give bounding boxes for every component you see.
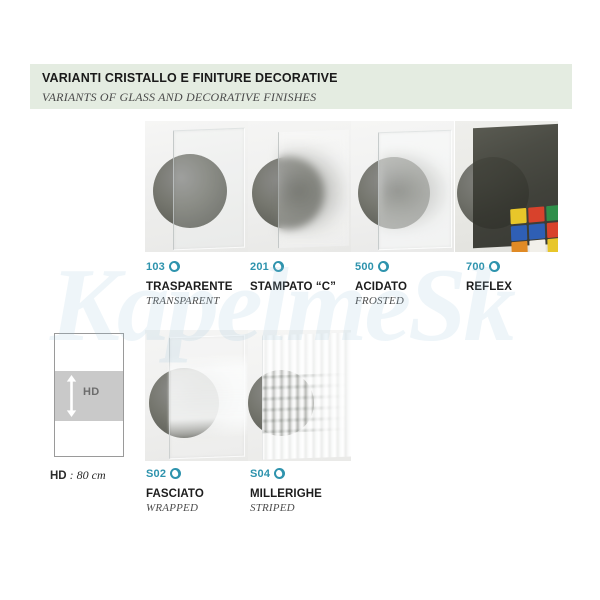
droplet-icon [274, 468, 285, 479]
caption-reflex: 700 REFLEX [466, 259, 512, 295]
droplet-icon [489, 261, 500, 272]
color-cube [546, 205, 558, 221]
hd-diagram: HD [54, 333, 124, 457]
swatch-image-stampato-c[interactable] [248, 121, 351, 252]
hd-caption: HD : 80 cm [50, 468, 106, 483]
hd-caption-value: 80 cm [77, 468, 106, 482]
color-cube [510, 208, 527, 224]
code-row: 700 [466, 259, 512, 274]
finish-name: MILLERIGHE [250, 488, 322, 500]
finish-code: S04 [250, 468, 270, 480]
caption-millerighe: S04 MILLERIGHE STRIPED [250, 466, 322, 514]
fluted-highlight [262, 332, 351, 459]
finish-name: STAMPATO “C” [250, 281, 336, 293]
code-row: 500 [355, 259, 407, 274]
finish-code: 201 [250, 261, 269, 273]
droplet-icon [378, 261, 389, 272]
caption-stampato-c: 201 STAMPATO “C” [250, 259, 336, 295]
color-cube [529, 223, 546, 239]
finish-translation: STRIPED [250, 502, 322, 514]
wrapped-band [169, 355, 247, 438]
hd-caption-separator: : [67, 468, 77, 482]
code-row: S04 [250, 466, 322, 481]
color-cube [546, 221, 558, 237]
color-cube [529, 239, 546, 252]
finish-translation: TRANSPARENT [146, 295, 233, 307]
finish-name: TRASPARENTE [146, 281, 233, 293]
finish-code: 103 [146, 261, 165, 273]
finish-name: ACIDATO [355, 281, 407, 293]
finish-code: 500 [355, 261, 374, 273]
swatch-image-millerighe[interactable] [248, 330, 351, 461]
finish-translation: WRAPPED [146, 502, 204, 514]
swatch-image-fasciato[interactable] [145, 330, 248, 461]
hd-inner-label: HD [83, 386, 100, 398]
caption-acidato: 500 ACIDATO FROSTED [355, 259, 407, 307]
hd-caption-label: HD [50, 470, 67, 482]
swatch-image-acidato[interactable] [351, 121, 454, 252]
page-subtitle: VARIANTS OF GLASS AND DECORATIVE FINISHE… [42, 90, 316, 105]
finish-code: S02 [146, 468, 166, 480]
texture-overlay [381, 149, 451, 233]
texture-overlay [278, 143, 350, 235]
caption-fasciato: S02 FASCIATO WRAPPED [146, 466, 204, 514]
hd-double-arrow-icon [66, 375, 77, 417]
color-cube [547, 238, 558, 252]
code-row: 103 [146, 259, 233, 274]
swatch-image-trasparente[interactable] [145, 121, 248, 252]
color-cube [511, 241, 528, 252]
caption-trasparente: 103 TRASPARENTE TRANSPARENT [146, 259, 233, 307]
code-row: S02 [146, 466, 204, 481]
swatch-image-reflex[interactable] [455, 121, 558, 252]
droplet-icon [169, 261, 180, 272]
finish-translation: FROSTED [355, 295, 407, 307]
color-cube [511, 224, 528, 240]
droplet-icon [170, 468, 181, 479]
page-title: VARIANTI CRISTALLO E FINITURE DECORATIVE [42, 71, 338, 85]
glass-pane [173, 128, 245, 251]
finish-code: 700 [466, 261, 485, 273]
finish-name: FASCIATO [146, 488, 204, 500]
color-cube-grid [510, 205, 558, 252]
droplet-icon [273, 261, 284, 272]
code-row: 201 [250, 259, 336, 274]
color-cube [528, 206, 545, 222]
finish-name: REFLEX [466, 281, 512, 293]
